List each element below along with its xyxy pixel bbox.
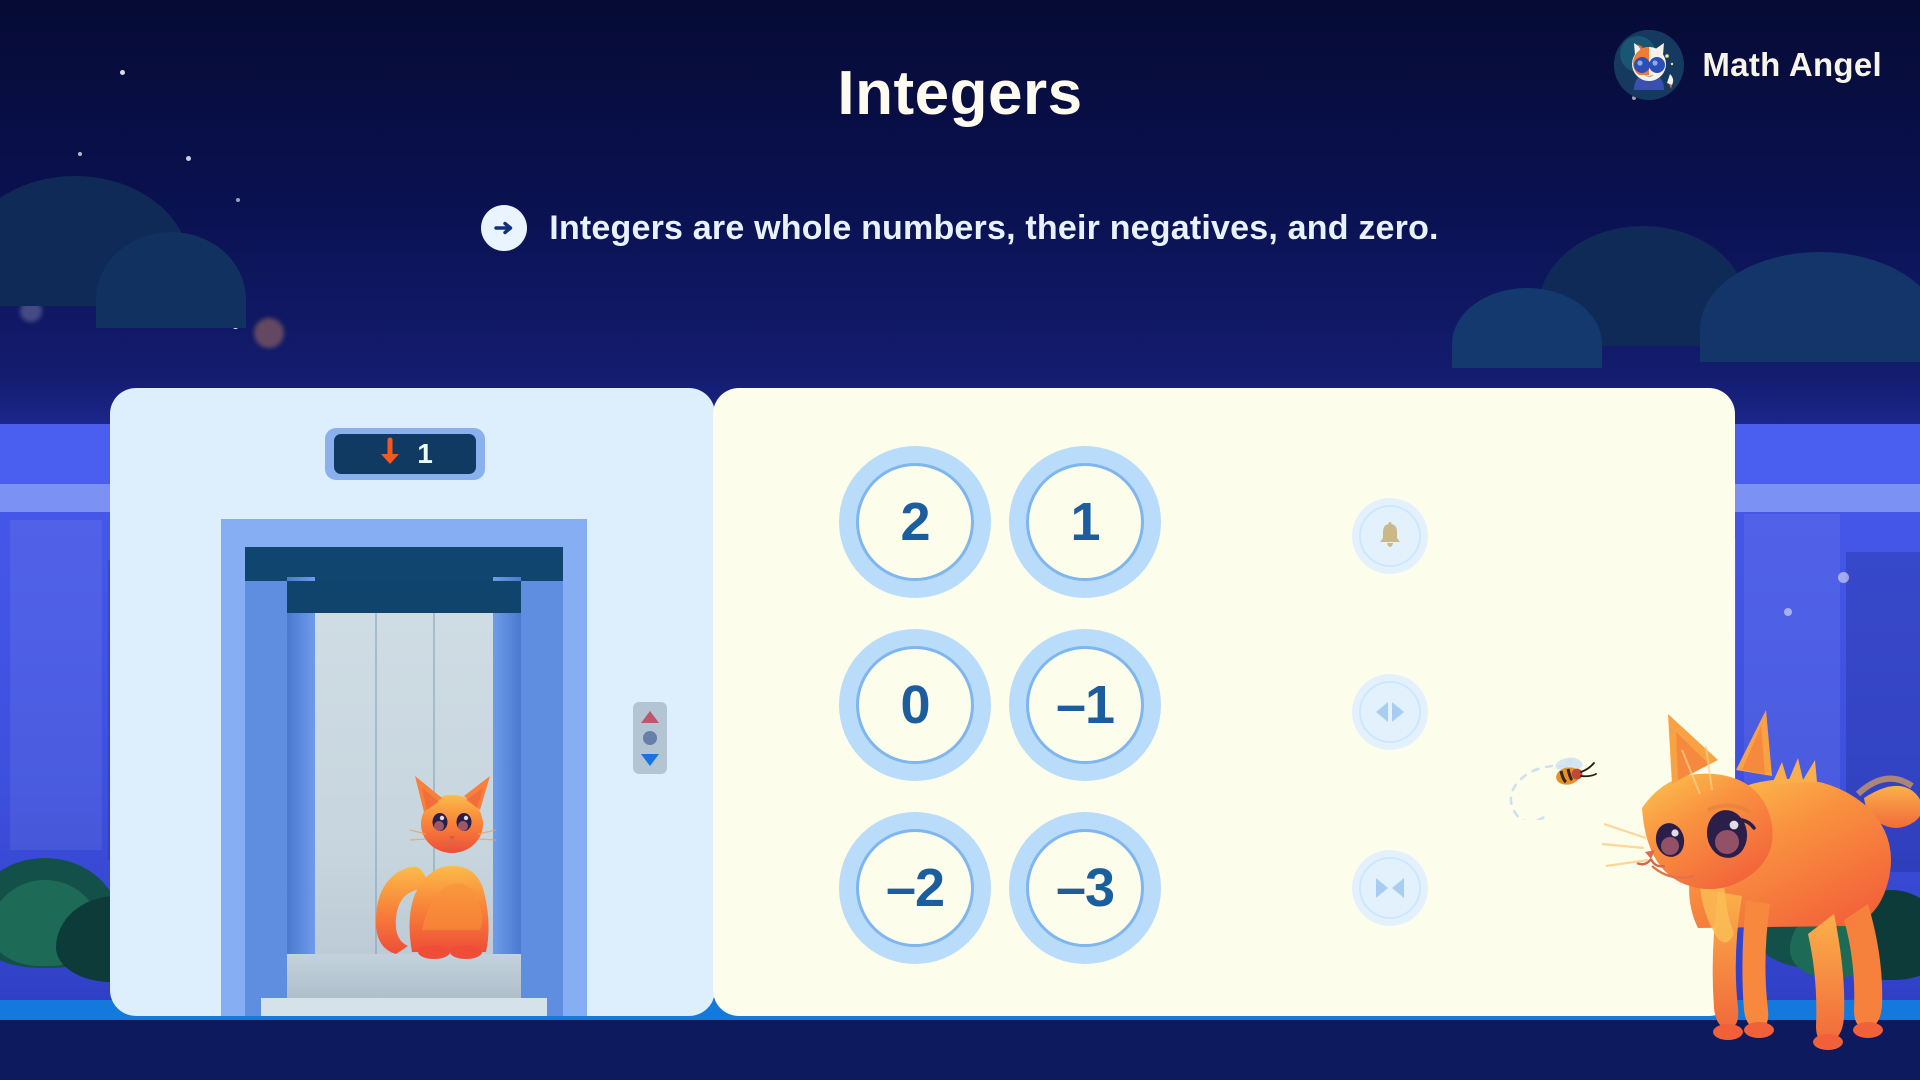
- number-button-1[interactable]: 1: [1009, 446, 1161, 598]
- logo-text: Math Angel: [1702, 46, 1882, 84]
- number-cell: –1: [1000, 613, 1170, 796]
- floor-display-screen: 1: [334, 434, 476, 474]
- elevator-call-panel[interactable]: [633, 702, 667, 774]
- elevator-jamb-left: [245, 547, 287, 1016]
- alarm-bell-button[interactable]: [1352, 498, 1428, 574]
- triangle-down-icon[interactable]: [641, 754, 659, 766]
- number-button-minus-2[interactable]: –2: [839, 812, 991, 964]
- elevator-threshold: [261, 998, 547, 1016]
- number-cell: –3: [1000, 796, 1170, 979]
- elevator-inner-jamb-left: [287, 577, 315, 988]
- number-button-face: –1: [1026, 646, 1144, 764]
- number-label: 1: [1070, 495, 1099, 549]
- elevator-inner-lintel: [287, 581, 521, 613]
- number-button-face: –2: [856, 829, 974, 947]
- elevator-action-buttons: [1352, 498, 1476, 926]
- door-close-icon: [1373, 874, 1407, 902]
- arrow-down-icon: [377, 437, 403, 472]
- number-cell: 1: [1000, 430, 1170, 613]
- floor-number: 1: [417, 440, 433, 468]
- number-button-minus-3[interactable]: –3: [1009, 812, 1161, 964]
- door-close-button[interactable]: [1352, 850, 1428, 926]
- number-label: –2: [886, 861, 944, 915]
- circle-indicator-icon: [643, 731, 657, 745]
- number-cell: 0: [830, 613, 1000, 796]
- brand-logo[interactable]: Math Angel: [1614, 28, 1882, 102]
- number-label: –3: [1056, 861, 1114, 915]
- bokeh-light: [1838, 572, 1849, 583]
- bokeh-light: [1784, 608, 1792, 616]
- elevator-jamb-right: [521, 547, 563, 1016]
- number-button-2[interactable]: 2: [839, 446, 991, 598]
- triangle-up-icon[interactable]: [641, 711, 659, 723]
- bee-icon: [1548, 752, 1602, 796]
- number-cell: 2: [830, 430, 1000, 613]
- number-button-face: 0: [856, 646, 974, 764]
- orange-cat-sitting-icon: [360, 740, 510, 970]
- elevator-lintel: [245, 547, 563, 581]
- arrow-right-circle-icon: [481, 205, 527, 251]
- subtitle-row: Integers are whole numbers, their negati…: [0, 205, 1920, 251]
- number-button-0[interactable]: 0: [839, 629, 991, 781]
- number-pad: 2 1 0 –1 –2: [830, 430, 1170, 980]
- number-label: 2: [900, 495, 929, 549]
- number-cell: –2: [830, 796, 1000, 979]
- number-button-face: 1: [1026, 463, 1144, 581]
- subtitle-text: Integers are whole numbers, their negati…: [549, 209, 1438, 248]
- number-button-face: –3: [1026, 829, 1144, 947]
- number-button-minus-1[interactable]: –1: [1009, 629, 1161, 781]
- door-open-icon: [1373, 698, 1407, 726]
- number-label: 0: [900, 678, 929, 732]
- number-label: –1: [1056, 678, 1114, 732]
- floor-display: 1: [325, 428, 485, 480]
- bell-icon: [1374, 520, 1406, 552]
- building: [10, 520, 102, 850]
- cat-astronaut-avatar-icon: [1614, 30, 1684, 100]
- orange-cat-standing-icon: [1596, 688, 1920, 1080]
- number-button-face: 2: [856, 463, 974, 581]
- bokeh-light: [254, 318, 284, 348]
- door-open-button[interactable]: [1352, 674, 1428, 750]
